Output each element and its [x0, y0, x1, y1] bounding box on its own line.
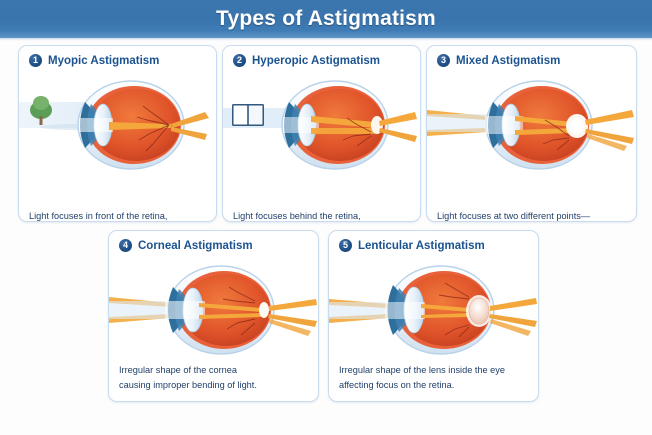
card-title: Corneal Astigmatism [138, 240, 253, 252]
eye-diagram-corneal [109, 257, 318, 365]
desc-line: Irregular shape of the cornea [119, 363, 310, 377]
card-title: Hyperopic Astigmatism [252, 55, 380, 67]
card-description: Light focuses at two different points— o… [437, 209, 628, 222]
card-description: Light focuses in front of the retina, ca… [29, 209, 208, 222]
card-title: Myopic Astigmatism [48, 55, 159, 67]
card-header: 2 Hyperopic Astigmatism [223, 46, 420, 67]
desc-line: Light focuses behind the retina, [233, 209, 412, 222]
desc-line: causing improper bending of light. [119, 378, 310, 392]
desc-line: Light focuses at two different points— [437, 209, 628, 222]
card-header: 3 Mixed Astigmatism [427, 46, 636, 67]
page-title: Types of Astigmatism [216, 7, 436, 31]
card-number-badge: 4 [119, 239, 132, 252]
card-mixed-astigmatism[interactable]: 3 Mixed Astigmatism [426, 45, 637, 222]
eye-diagram-hyperopic [223, 72, 420, 180]
card-hyperopic-astigmatism[interactable]: 2 Hyperopic Astigmatism [222, 45, 421, 222]
card-number-badge: 3 [437, 54, 450, 67]
book-icon-shape [232, 104, 264, 126]
desc-line: Irregular shape of the lens inside the e… [339, 363, 530, 377]
card-title: Mixed Astigmatism [456, 55, 560, 67]
card-description: Light focuses behind the retina, making … [233, 209, 412, 222]
card-header: 1 Myopic Astigmatism [19, 46, 216, 67]
card-title: Lenticular Astigmatism [358, 240, 485, 252]
desc-line: affecting focus on the retina. [339, 378, 530, 392]
card-header: 4 Corneal Astigmatism [109, 231, 318, 252]
card-header: 5 Lenticular Astigmatism [329, 231, 538, 252]
card-description: Irregular shape of the cornea causing im… [119, 363, 310, 394]
header-banner: Types of Astigmatism [0, 0, 652, 38]
header-underline [0, 38, 652, 41]
card-number-badge: 5 [339, 239, 352, 252]
eye-diagram-myopic [19, 72, 216, 180]
desc-line: Light focuses in front of the retina, [29, 209, 208, 222]
card-myopic-astigmatism[interactable]: 1 Myopic Astigmatism [18, 45, 217, 222]
card-corneal-astigmatism[interactable]: 4 Corneal Astigmatism [108, 230, 319, 402]
card-lenticular-astigmatism[interactable]: 5 Lenticular Astigmatism [328, 230, 539, 402]
card-description: Irregular shape of the lens inside the e… [339, 363, 530, 394]
poster-page: Types of Astigmatism 1 Myopic Astigmatis… [0, 0, 652, 435]
card-number-badge: 1 [29, 54, 42, 67]
eye-diagram-mixed [427, 72, 636, 180]
card-number-badge: 2 [233, 54, 246, 67]
eye-diagram-lenticular [329, 257, 538, 365]
